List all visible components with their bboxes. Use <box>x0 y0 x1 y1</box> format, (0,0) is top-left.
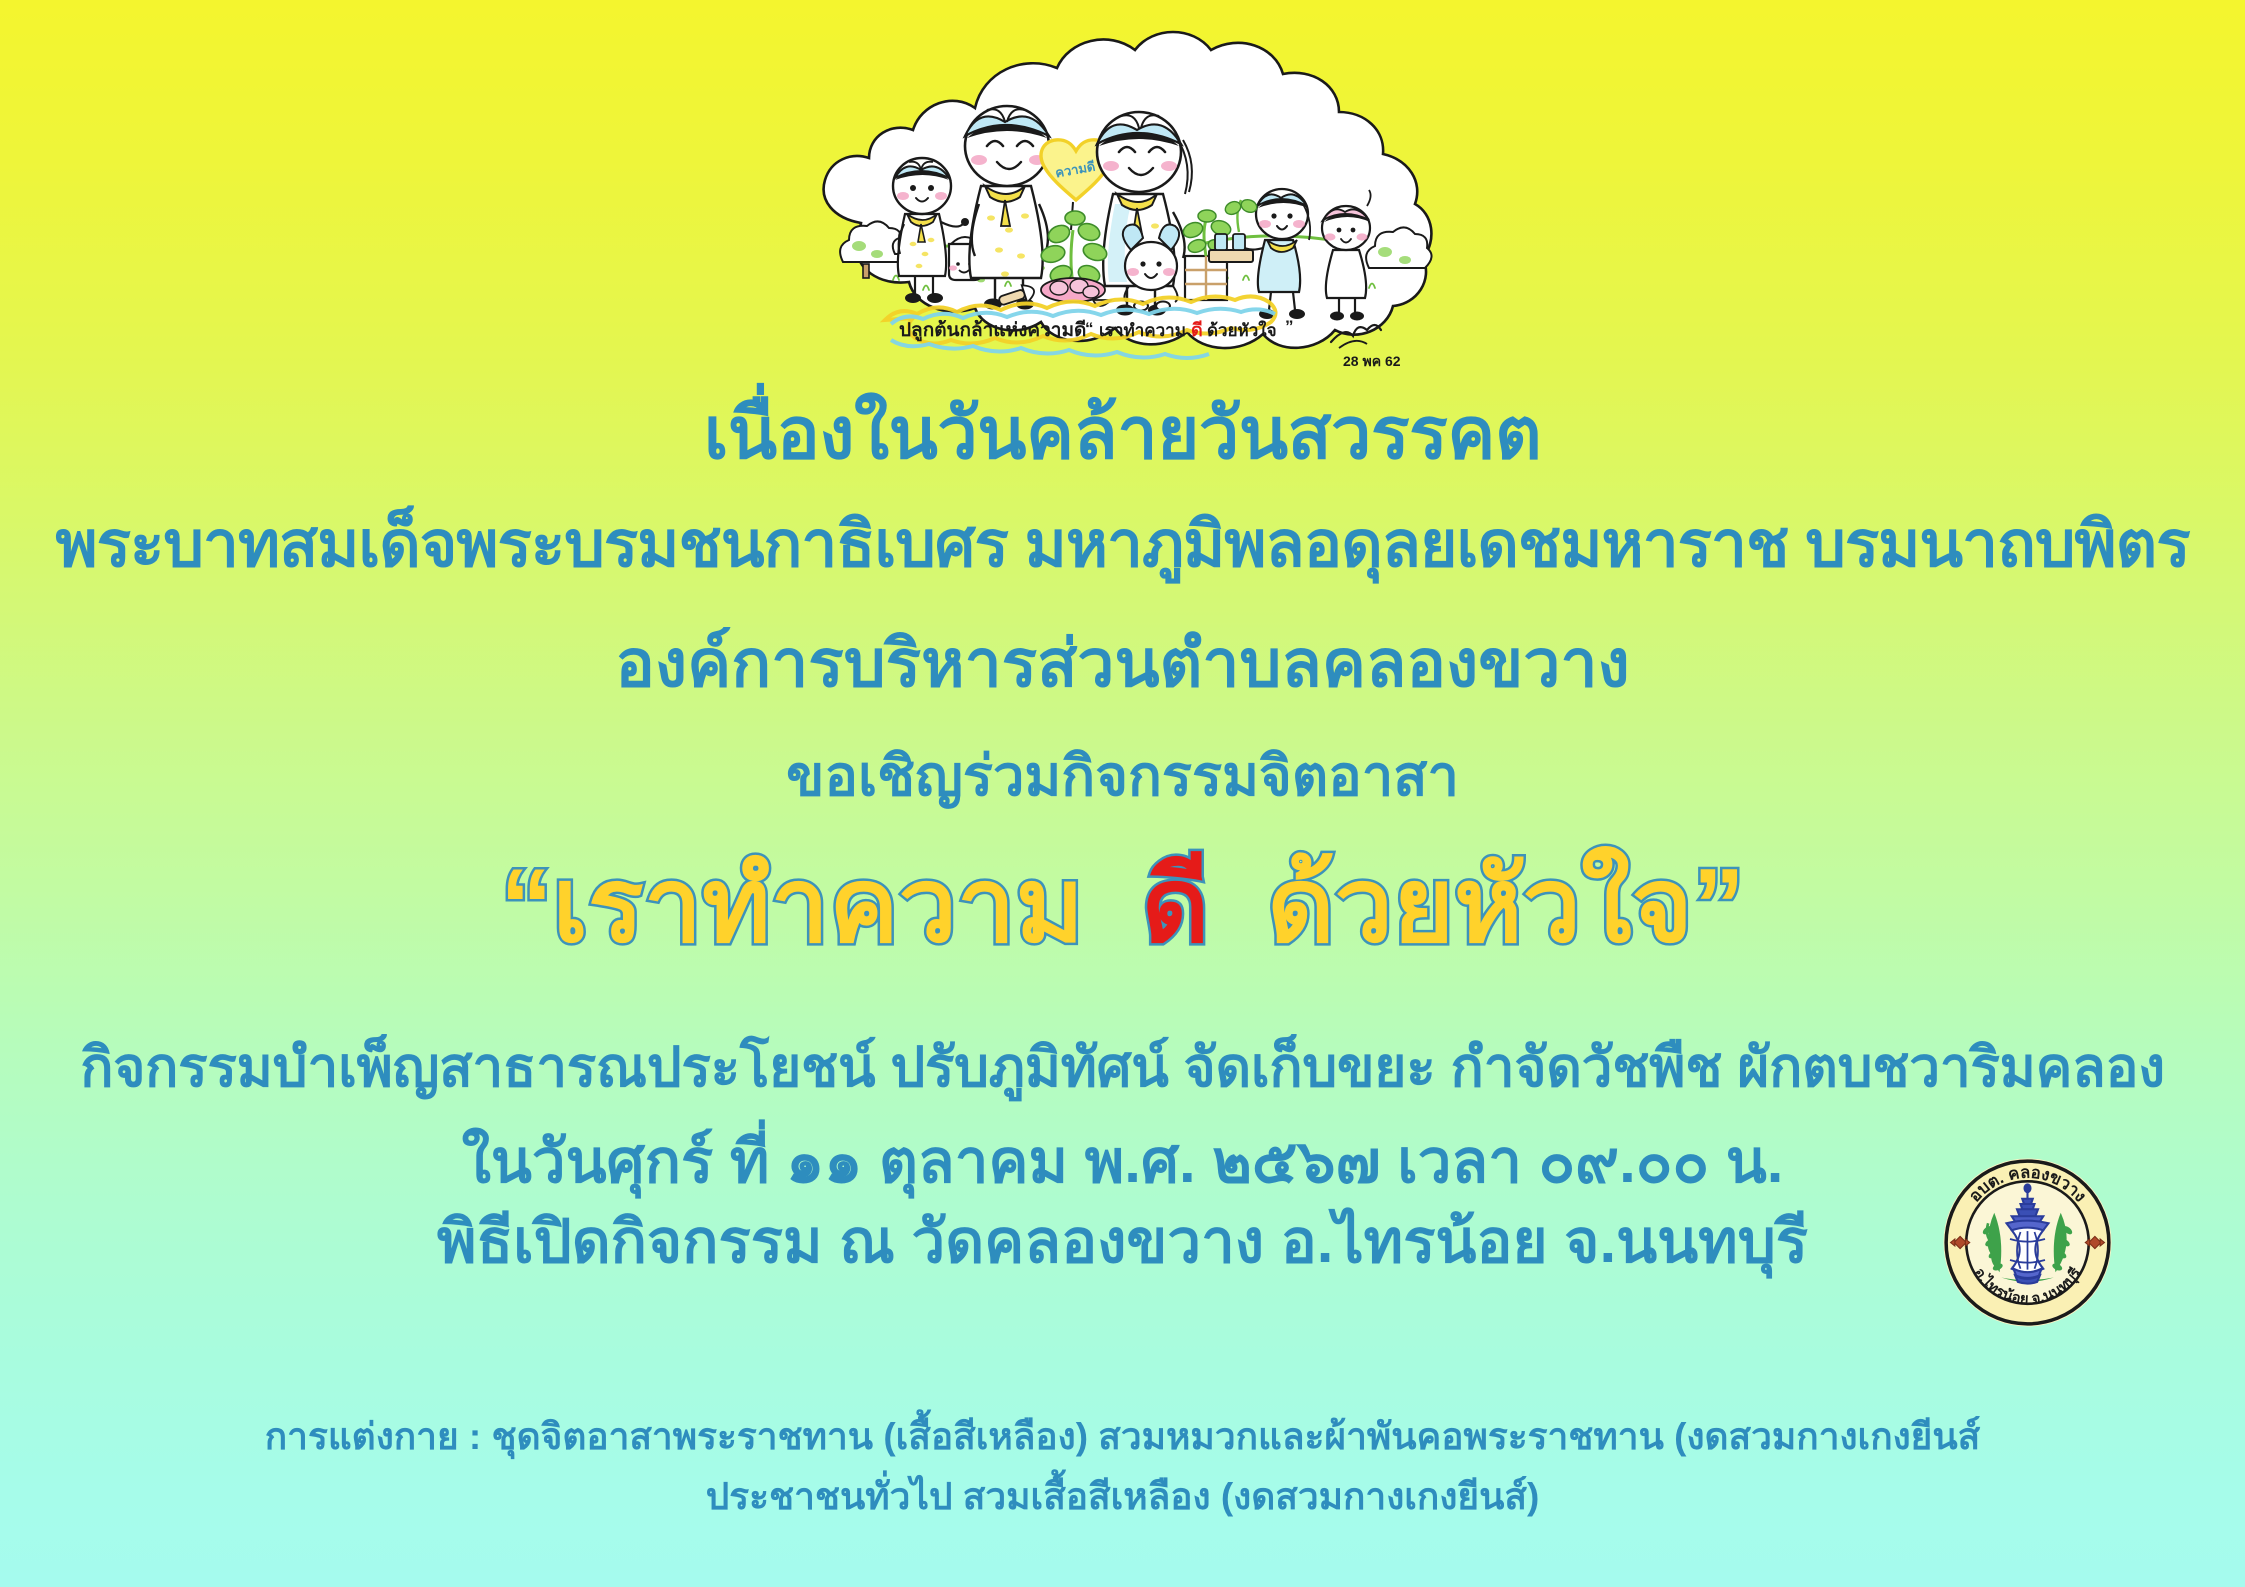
slogan-open-quote: “ <box>500 848 552 964</box>
illustration-caption-plain: ปลูกต้นกล้าแห่งความดี <box>899 319 1086 342</box>
illustration-caption-quote-1: เราทำความ <box>1099 321 1186 340</box>
slogan-close-quote: ” <box>1693 848 1745 964</box>
svg-text:“: “ <box>1085 319 1094 338</box>
illustration-caption-quote-red: ดี <box>1191 320 1203 340</box>
volunteer-family-planting-illustration: ความดี <box>773 18 1473 378</box>
poster-canvas: ความดี <box>0 0 2245 1587</box>
invitation-heading: ขอเชิญร่วมกิจกรรมจิตอาสา <box>0 748 2245 804</box>
slogan-highlight-dee: ดี <box>1142 848 1210 964</box>
dress-code-line-1: การแต่งกาย : ชุดจิตอาสาพระราชทาน (เสื้อส… <box>0 1418 2245 1455</box>
event-date-time: ในวันศุกร์ ที่ ๑๑ ตุลาคม พ.ศ. ๒๕๖๗ เวลา … <box>0 1132 2245 1192</box>
main-slogan: “เราทำความ ดี ด้วยหัวใจ” <box>0 854 2245 958</box>
svg-text:”: ” <box>1285 317 1294 336</box>
event-venue: พิธีเปิดกิจกรรม ณ วัดคลองขวาง อ.ไทรน้อย … <box>0 1212 2245 1272</box>
occasion-heading: เนื่องในวันคล้ายวันสวรรคต <box>0 398 2245 470</box>
illustration-signature-date: 28 พค 62 <box>1343 353 1401 369</box>
dress-code-line-2: ประชาชนทั่วไป สวมเสื้อสีเหลือง (งดสวมกาง… <box>0 1478 2245 1515</box>
king-title-heading: พระบาทสมเด็จพระบรมชนกาธิเบศร มหาภูมิพลอด… <box>0 512 2245 576</box>
official-seal-subdistrict-administrative-organization: อบต. คลองขวาง อ.ไทรน้อย จ.นนทบุรี <box>1940 1155 2115 1330</box>
slogan-part-1: เราทำความ <box>552 848 1084 964</box>
slogan-part-2: ด้วยหัวใจ <box>1267 848 1693 964</box>
activity-description: กิจกรรมบำเพ็ญสาธารณประโยชน์ ปรับภูมิทัศน… <box>0 1040 2245 1095</box>
organization-heading: องค์การบริหารส่วนตำบลคลองขวาง <box>0 630 2245 696</box>
illustration-caption-quote-2: ด้วยหัวใจ <box>1207 320 1277 340</box>
